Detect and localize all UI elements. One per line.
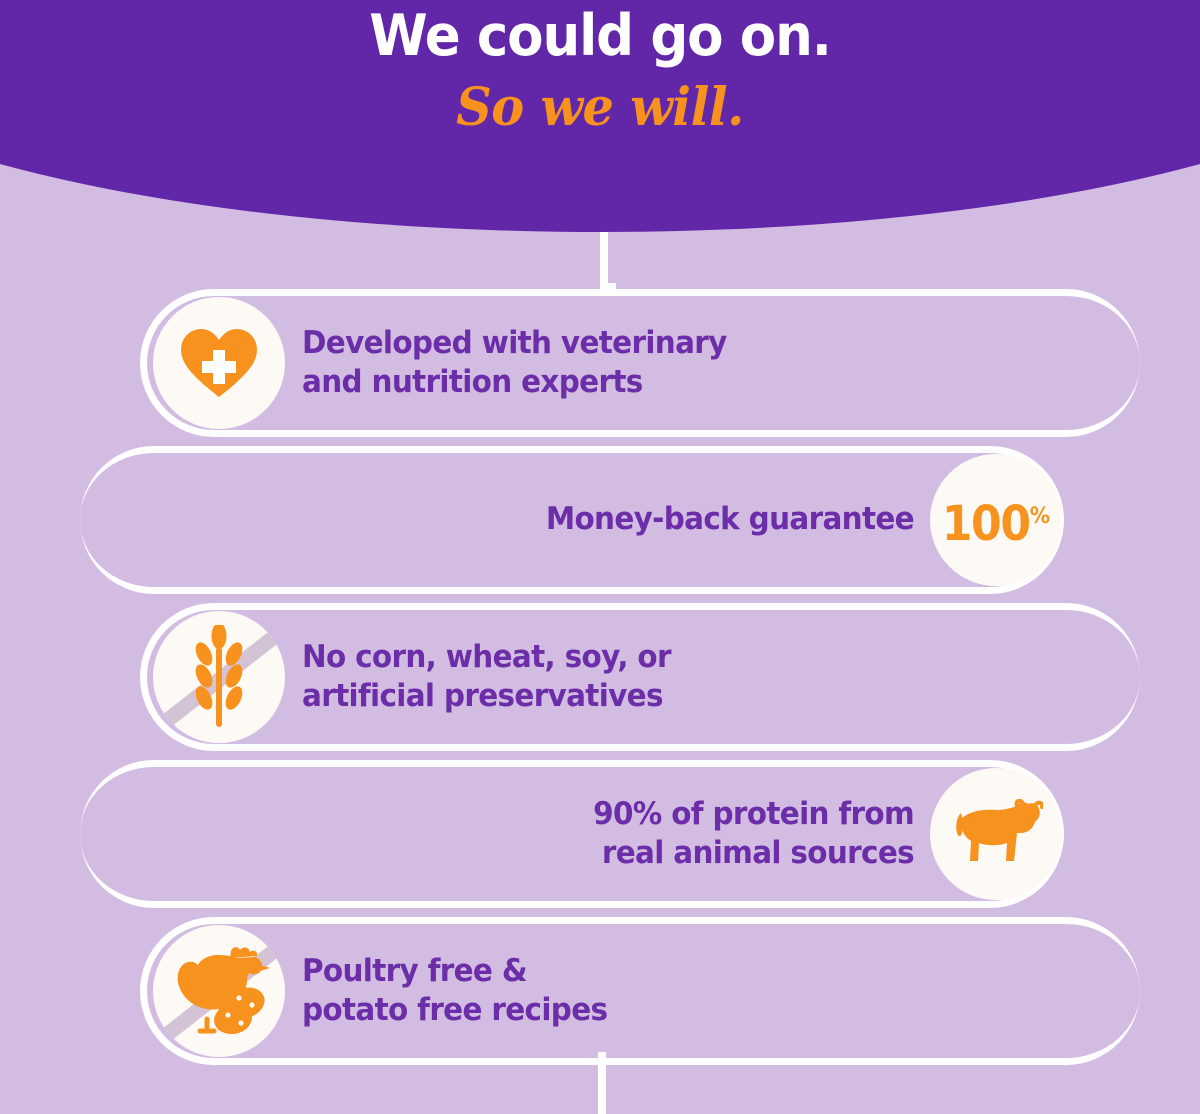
feature-label-poultry-potato-free: Poultry free & potato free recipes [302, 952, 910, 1030]
connector-header-to-row1 [600, 228, 608, 290]
icon-disc-heart-plus [153, 297, 285, 429]
icon-disc-100-percent: 100% [930, 454, 1062, 586]
heart-plus-icon [180, 328, 258, 398]
feature-label-no-corn-wheat-soy: No corn, wheat, soy, or artificial prese… [302, 638, 910, 716]
infographic-canvas: We could go on. So we will. Developed wi… [0, 0, 1200, 1114]
header-text-block: We could go on. So we will. [0, 0, 1200, 138]
icon-disc-cow [930, 768, 1062, 900]
icon-disc-chicken-potato-no [153, 925, 285, 1057]
feature-label-money-back-guarantee: Money-back guarantee [331, 500, 914, 539]
headline-primary: We could go on. [42, 0, 1158, 70]
badge-100-percent-text: 100% [942, 493, 1050, 548]
feature-label-veterinary-experts: Developed with veterinary and nutrition … [302, 324, 910, 402]
cow-icon [949, 799, 1043, 869]
chicken-potato-icon [167, 945, 271, 1037]
icon-disc-wheat-no [153, 611, 285, 743]
headline-secondary: So we will. [30, 70, 1170, 138]
wheat-icon [186, 625, 252, 729]
feature-label-protein-real-animal-sources: 90% of protein from real animal sources [312, 795, 914, 873]
